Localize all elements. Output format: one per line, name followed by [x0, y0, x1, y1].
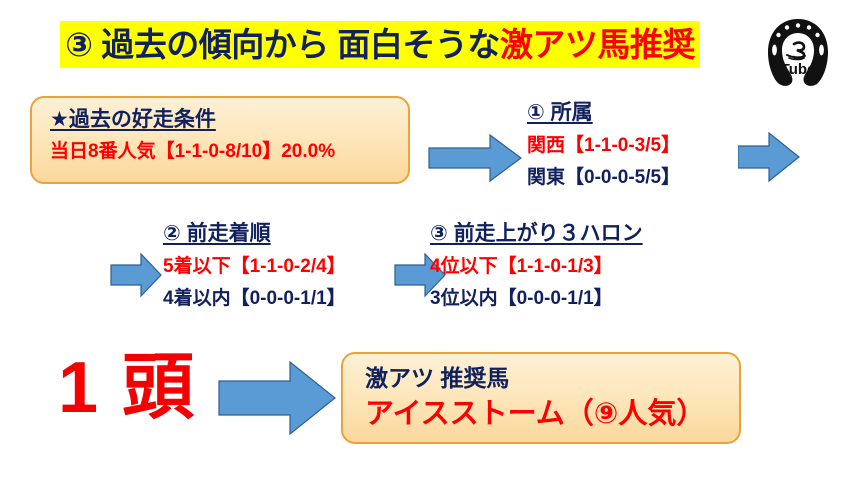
- past-conditions-stat: 当日8番人気【1-1-0-8/10】20.0%: [50, 139, 408, 165]
- factor-2-other-line: 4着以内【0-0-0-1/1】: [163, 286, 346, 312]
- factor-2-highlight-line: 5着以下【1-1-0-2/4】: [163, 254, 346, 280]
- recommended-horse-box: 激アツ 推奨馬 アイスストーム（⑨人気）: [341, 352, 741, 444]
- factor-3-heading: ③ 前走上がり３ハロン: [430, 221, 643, 247]
- factor-1-other-line: 関東【0-0-0-5/5】: [527, 165, 680, 191]
- factor-2-heading: ② 前走着順: [163, 221, 346, 247]
- arrow-right-icon-5: [218, 360, 336, 436]
- factor-1-highlight-line: 関西【1-1-0-3/5】: [527, 133, 680, 159]
- factor-3-other-line: 3位以内【0-0-0-1/1】: [430, 286, 643, 312]
- arrow-right-icon-1: [428, 133, 522, 183]
- title-suffix-highlight: 激アツ馬推奨: [500, 26, 695, 63]
- recommend-heading: 激アツ 推奨馬: [365, 364, 739, 393]
- past-conditions-heading: ★過去の好走条件: [50, 107, 408, 133]
- factor-3-highlight-line: 4位以下【1-1-0-1/3】: [430, 254, 643, 280]
- factor-group-1: ① 所属 関西【1-1-0-3/5】 関東【0-0-0-5/5】: [527, 100, 680, 191]
- factor-1-heading: ① 所属: [527, 100, 680, 126]
- factor-group-3: ③ 前走上がり３ハロン 4位以下【1-1-0-1/3】 3位以内【0-0-0-1…: [430, 221, 643, 312]
- slide-title-banner: ③ 過去の傾向から 面白そうな激アツ馬推奨: [60, 21, 700, 68]
- logo-text: Tube: [781, 61, 816, 78]
- slide-canvas: ③ 過去の傾向から 面白そうな激アツ馬推奨 Tube ★過去の好走条件 当日8番…: [0, 0, 850, 479]
- horse-count-label: 1 頭: [58, 352, 196, 424]
- recommend-horse-name: アイスストーム（⑨人気）: [365, 397, 739, 432]
- factor-group-2: ② 前走着順 5着以下【1-1-0-2/4】 4着以内【0-0-0-1/1】: [163, 221, 346, 312]
- title-prefix: ③ 過去の傾向から 面白そうな: [65, 26, 500, 63]
- arrow-right-icon-3: [110, 252, 162, 298]
- arrow-right-icon-2: [738, 131, 800, 183]
- past-conditions-box: ★過去の好走条件 当日8番人気【1-1-0-8/10】20.0%: [30, 96, 410, 184]
- horseshoe-tube-logo-icon: Tube: [760, 14, 836, 90]
